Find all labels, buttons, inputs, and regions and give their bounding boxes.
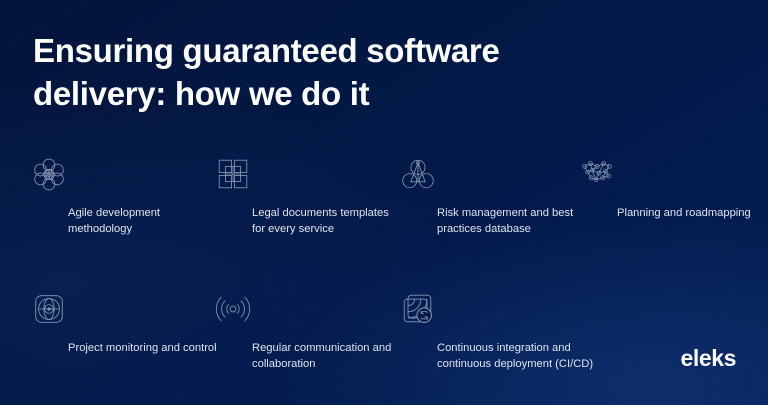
feature-item-project-monitoring: Project monitoring and control xyxy=(30,290,220,356)
presentation-slide: Ensuring guaranteed software delivery: h… xyxy=(0,0,768,405)
interlocking-squares-grid-icon xyxy=(214,155,252,193)
feature-item-label: Risk management and best practices datab… xyxy=(437,205,587,237)
globe-target-icon xyxy=(30,290,68,328)
feature-item-label: Planning and roadmapping xyxy=(617,205,767,221)
cicd-refresh-icon xyxy=(399,290,437,328)
feature-item-agile-development: Agile development methodology xyxy=(30,155,220,237)
feature-item-legal-documents: Legal documents templates for every serv… xyxy=(214,155,404,237)
feature-item-planning-roadmapping: Planning and roadmapping xyxy=(579,155,768,221)
triangle-circles-icon xyxy=(399,155,437,193)
feature-item-label: Legal documents templates for every serv… xyxy=(252,205,402,237)
brand-logo: eleks xyxy=(680,345,736,372)
feature-item-label: Continuous integration and continuous de… xyxy=(437,340,602,372)
feature-item-label: Regular communication and collaboration xyxy=(252,340,402,372)
feature-item-cicd: Continuous integration and continuous de… xyxy=(399,290,589,372)
network-nodes-icon xyxy=(579,155,617,193)
feature-item-regular-communication: Regular communication and collaboration xyxy=(214,290,404,372)
feature-item-risk-management: Risk management and best practices datab… xyxy=(399,155,589,237)
feature-item-label: Project monitoring and control xyxy=(68,340,218,356)
flower-petals-icon xyxy=(30,155,68,193)
feature-item-label: Agile development methodology xyxy=(68,205,218,237)
page-title: Ensuring guaranteed software delivery: h… xyxy=(33,30,633,116)
broadcast-signal-icon xyxy=(214,290,252,328)
